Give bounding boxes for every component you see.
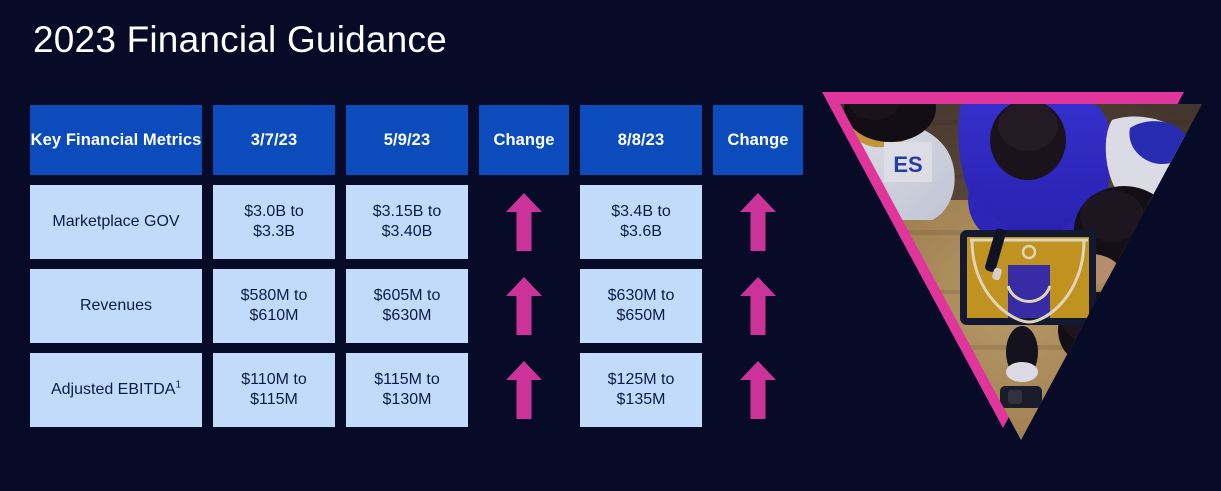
value-line-2: $115M [250,391,298,408]
value-line-1: $115M to [374,371,440,388]
column-gap [468,269,479,343]
cell-value-3-7-23: $3.0B to$3.3B [213,185,335,259]
value-line-1: $580M to [241,287,308,304]
cell-change-1 [479,269,569,343]
value-line-1: $3.0B to [244,203,304,220]
value-line-1: $125M to [608,371,675,388]
cell-value-3-7-23: $580M to$610M [213,269,335,343]
cell-value-8-8-23: $125M to$135M [580,353,702,427]
cell-change-2 [713,269,803,343]
column-gap [569,353,580,427]
value-line-2: $650M [617,307,666,324]
header-date-3-7-23-label: 3/7/23 [251,130,297,150]
column-gap [202,105,213,175]
column-gap [569,269,580,343]
arrow-up-icon [740,277,776,335]
arrow-up-icon [740,361,776,419]
column-gap [202,185,213,259]
cell-change-2 [713,185,803,259]
row-metric-label: Revenues [30,269,202,343]
hero-graphic: ES [812,80,1212,460]
value-line-2: $3.3B [253,223,295,240]
value-line-2: $3.40B [382,223,433,240]
value-line-1: $3.4B to [611,203,671,220]
value-line-2: $130M [383,391,432,408]
column-gap [569,185,580,259]
column-gap [569,105,580,175]
page-title: 2023 Financial Guidance [33,17,447,63]
header-date-3-7-23: 3/7/23 [213,105,335,175]
metric-name: Marketplace GOV [52,213,179,230]
column-gap [468,353,479,427]
column-gap [468,105,479,175]
basketball-huddle-triangle-photo: ES [812,80,1212,460]
header-date-8-8-23-label: 8/8/23 [618,130,664,150]
photo-triangle: ES [812,80,1212,460]
cell-change-2 [713,353,803,427]
column-gap [702,269,713,343]
table-row: Revenues $580M to$610M $605M to$630M $63… [30,269,803,343]
header-key-financial-metrics: Key Financial Metrics [30,105,202,175]
cell-change-1 [479,353,569,427]
cell-value-8-8-23: $630M to$650M [580,269,702,343]
header-date-5-9-23-label: 5/9/23 [384,130,430,150]
column-gap [468,185,479,259]
table-row: Marketplace GOV $3.0B to$3.3B $3.15B to$… [30,185,803,259]
column-gap [702,185,713,259]
header-change-2: Change [713,105,803,175]
value-line-2: $3.6B [620,223,662,240]
metric-name: Adjusted EBITDA [51,381,176,398]
slide-root: 2023 Financial Guidance Key Financial Me… [0,0,1221,491]
cell-value-5-9-23: $3.15B to$3.40B [346,185,468,259]
value-line-2: $135M [617,391,666,408]
header-change-2-label: Change [727,130,788,150]
column-gap [335,105,346,175]
cell-change-1 [479,185,569,259]
column-gap [202,353,213,427]
column-gap [335,269,346,343]
cell-value-8-8-23: $3.4B to$3.6B [580,185,702,259]
cell-value-3-7-23: $110M to$115M [213,353,335,427]
arrow-up-icon [506,361,542,419]
guidance-table: Key Financial Metrics 3/7/23 5/9/23 Chan… [30,105,803,437]
arrow-up-icon [740,193,776,251]
cell-value-5-9-23: $605M to$630M [346,269,468,343]
value-line-1: $605M to [374,287,441,304]
column-gap [702,105,713,175]
table-row: Adjusted EBITDA1 $110M to$115M $115M to$… [30,353,803,427]
header-key-financial-metrics-label: Key Financial Metrics [31,130,202,150]
arrow-up-icon [506,277,542,335]
column-gap [335,185,346,259]
header-date-5-9-23: 5/9/23 [346,105,468,175]
metric-name: Revenues [80,297,152,314]
header-date-8-8-23: 8/8/23 [580,105,702,175]
value-line-1: $3.15B to [373,203,442,220]
cell-value-5-9-23: $115M to$130M [346,353,468,427]
header-change-1: Change [479,105,569,175]
row-metric-label: Adjusted EBITDA1 [30,353,202,427]
row-metric-label: Marketplace GOV [30,185,202,259]
header-change-1-label: Change [493,130,554,150]
column-gap [702,353,713,427]
value-line-1: $110M to [241,371,307,388]
value-line-2: $610M [250,307,299,324]
arrow-up-icon [506,193,542,251]
value-line-1: $630M to [608,287,675,304]
column-gap [202,269,213,343]
column-gap [335,353,346,427]
table-header-row: Key Financial Metrics 3/7/23 5/9/23 Chan… [30,105,803,175]
footnote-marker: 1 [175,380,181,391]
value-line-2: $630M [383,307,432,324]
